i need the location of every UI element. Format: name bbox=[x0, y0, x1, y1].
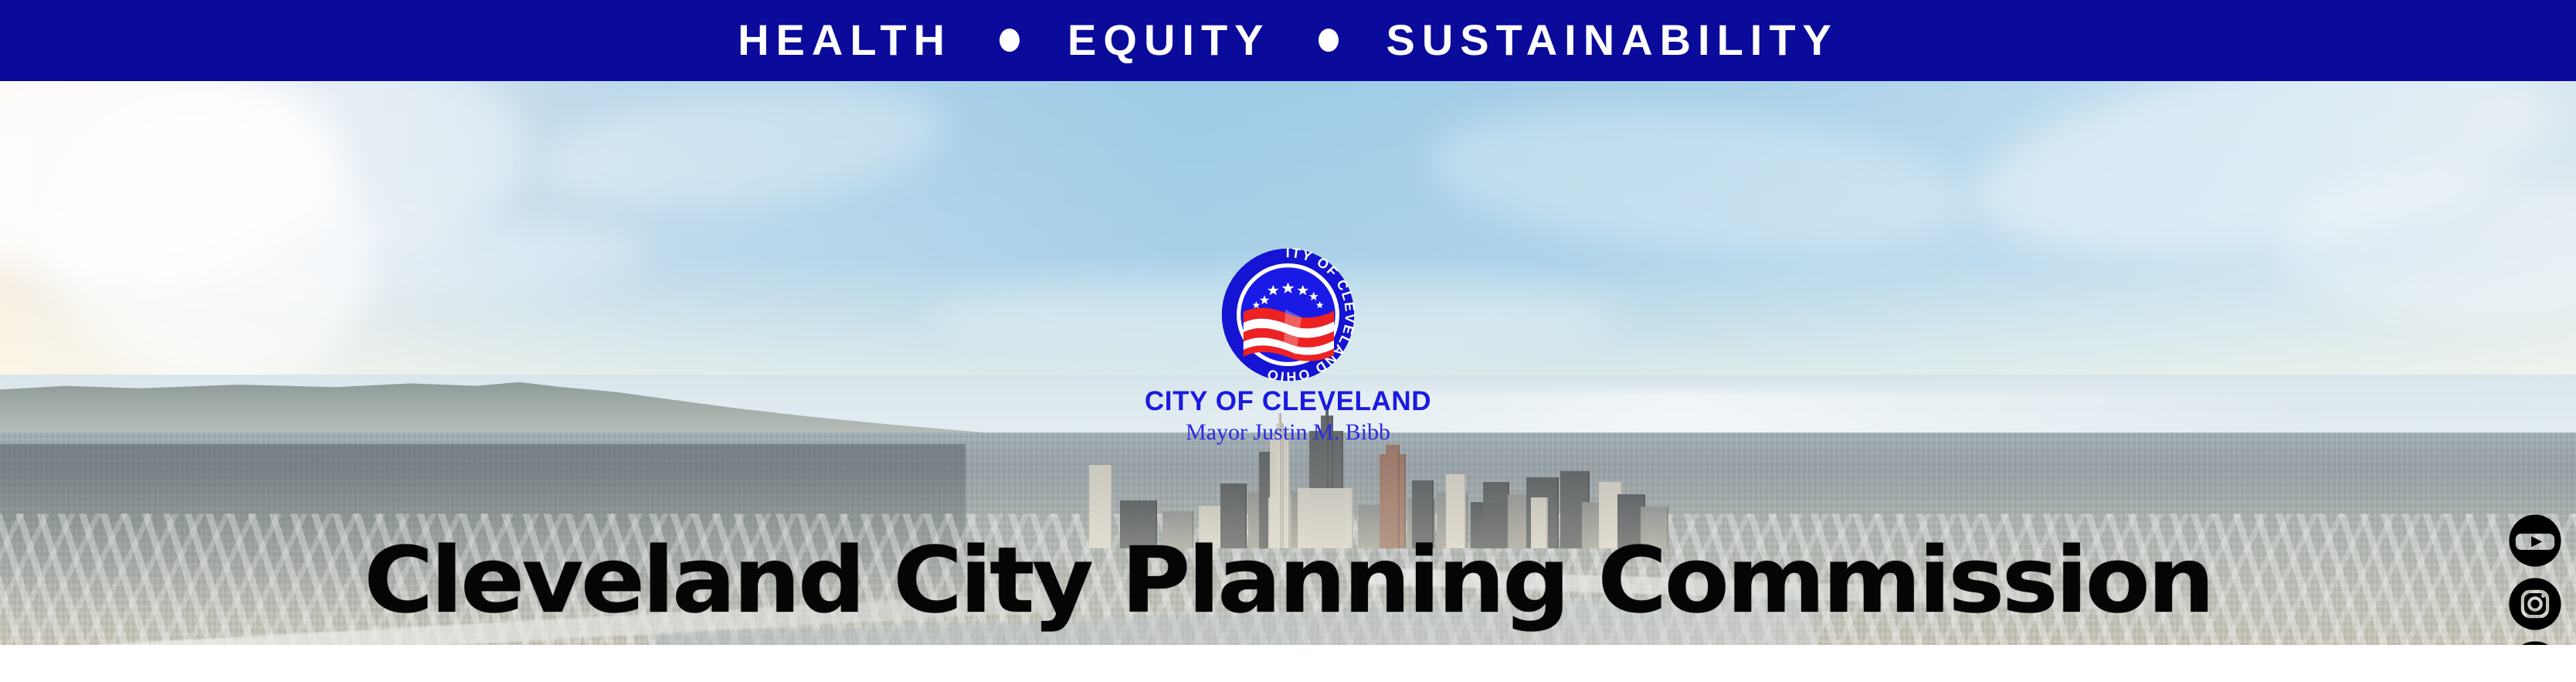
tagline-word-sustainability: SUSTAINABILITY bbox=[1386, 19, 1838, 62]
facebook-icon[interactable] bbox=[2508, 640, 2562, 645]
tagline-separator-dot-2 bbox=[1319, 29, 1339, 52]
page-title: Cleveland City Planning Commission bbox=[0, 534, 2576, 626]
city-identity-block: CITY OF CLEVELAND OHIO bbox=[1018, 247, 1559, 445]
youtube-icon[interactable] bbox=[2508, 514, 2562, 568]
social-links bbox=[2502, 514, 2568, 645]
tagline-bar: HEALTH EQUITY SUSTAINABILITY bbox=[0, 0, 2576, 81]
tagline-word-health: HEALTH bbox=[738, 19, 952, 62]
city-of-cleveland-seal-icon: CITY OF CLEVELAND OHIO bbox=[1220, 247, 1356, 382]
tagline-separator-dot-1 bbox=[1000, 29, 1020, 52]
mayor-name: Mayor Justin M. Bibb bbox=[1018, 419, 1559, 445]
hero-photo: CITY OF CLEVELAND OHIO bbox=[0, 81, 2576, 645]
page-root: HEALTH EQUITY SUSTAINABILITY bbox=[0, 0, 2576, 682]
tagline-word-equity: EQUITY bbox=[1067, 19, 1270, 62]
tagline: HEALTH EQUITY SUSTAINABILITY bbox=[738, 19, 1838, 63]
footer-white-strip bbox=[0, 645, 2576, 682]
org-name: CITY OF CLEVELAND bbox=[1018, 388, 1559, 416]
instagram-icon[interactable] bbox=[2508, 577, 2562, 631]
